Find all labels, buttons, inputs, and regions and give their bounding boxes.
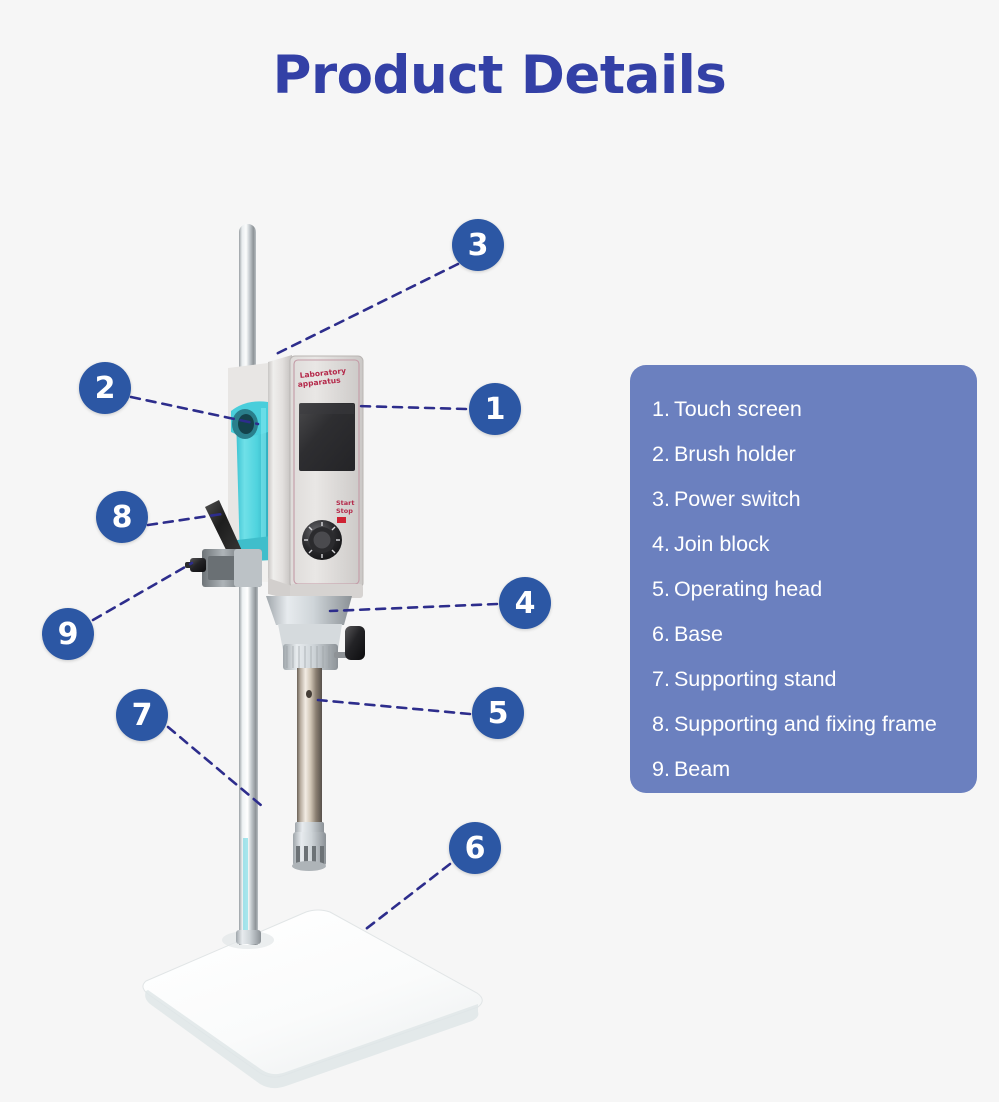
svg-text:Stop: Stop [336,507,353,515]
join-block-thumbscrew [345,626,365,660]
product-details-page: Product Details [0,0,999,1102]
legend-item-1-label: Touch screen [674,397,802,421]
legend-item-8-label: Supporting and fixing frame [674,712,937,736]
callout-marker-5[interactable]: 5 [472,687,524,739]
callout-marker-3-label: 3 [468,228,489,263]
legend-item-2: 2.Brush holder [652,432,977,477]
legend-item-3: 3.Power switch [652,477,977,522]
legend-item-3-number: 3. [652,487,670,511]
legend-item-8-number: 8. [652,712,670,736]
callout-marker-8-label: 8 [112,500,133,535]
join-block [266,596,365,670]
callout-marker-7[interactable]: 7 [116,689,168,741]
start-stop-indicator [337,517,346,523]
legend-item-5-number: 5. [652,577,670,601]
svg-text:Start: Start [336,499,355,507]
callout-marker-1-label: 1 [485,392,506,427]
callout-marker-9-label: 9 [58,617,79,652]
legend-item-2-label: Brush holder [674,442,796,466]
callout-marker-7-label: 7 [132,698,153,733]
legend-panel: 1.Touch screen 2.Brush holder 3.Power sw… [630,365,977,793]
legend-item-3-label: Power switch [674,487,801,511]
legend-item-9-number: 9. [652,757,670,781]
callout-marker-2-label: 2 [95,371,116,406]
legend-item-5-label: Operating head [674,577,822,601]
legend-item-5: 5.Operating head [652,567,977,612]
legend-item-6-number: 6. [652,622,670,646]
callout-marker-5-label: 5 [488,696,509,731]
callout-marker-3[interactable]: 3 [452,219,504,271]
callout-marker-9[interactable]: 9 [42,608,94,660]
legend-item-9-label: Beam [674,757,730,781]
operating-head [292,668,326,871]
legend-item-7-label: Supporting stand [674,667,837,691]
legend-item-2-number: 2. [652,442,670,466]
callout-marker-6-label: 6 [465,831,486,866]
callout-marker-1[interactable]: 1 [469,383,521,435]
legend-item-1-number: 1. [652,397,670,421]
device-housing [268,355,363,600]
supporting-stand-rod [236,565,261,945]
callout-marker-4[interactable]: 4 [499,577,551,629]
legend-item-8: 8.Supporting and fixing frame [652,702,977,747]
callout-marker-2[interactable]: 2 [79,362,131,414]
legend-item-4-number: 4. [652,532,670,556]
callout-marker-4-label: 4 [515,586,536,621]
legend-item-1: 1.Touch screen [652,387,977,432]
legend-item-7-number: 7. [652,667,670,691]
legend-item-4: 4.Join block [652,522,977,567]
legend-item-6: 6.Base [652,612,977,657]
legend-item-9: 9.Beam [652,747,977,792]
legend-item-6-label: Base [674,622,723,646]
callout-marker-6[interactable]: 6 [449,822,501,874]
base-plate [143,910,482,1088]
callout-marker-8[interactable]: 8 [96,491,148,543]
legend-item-4-label: Join block [674,532,770,556]
legend-item-7: 7.Supporting stand [652,657,977,702]
upper-support-rod [239,224,256,374]
